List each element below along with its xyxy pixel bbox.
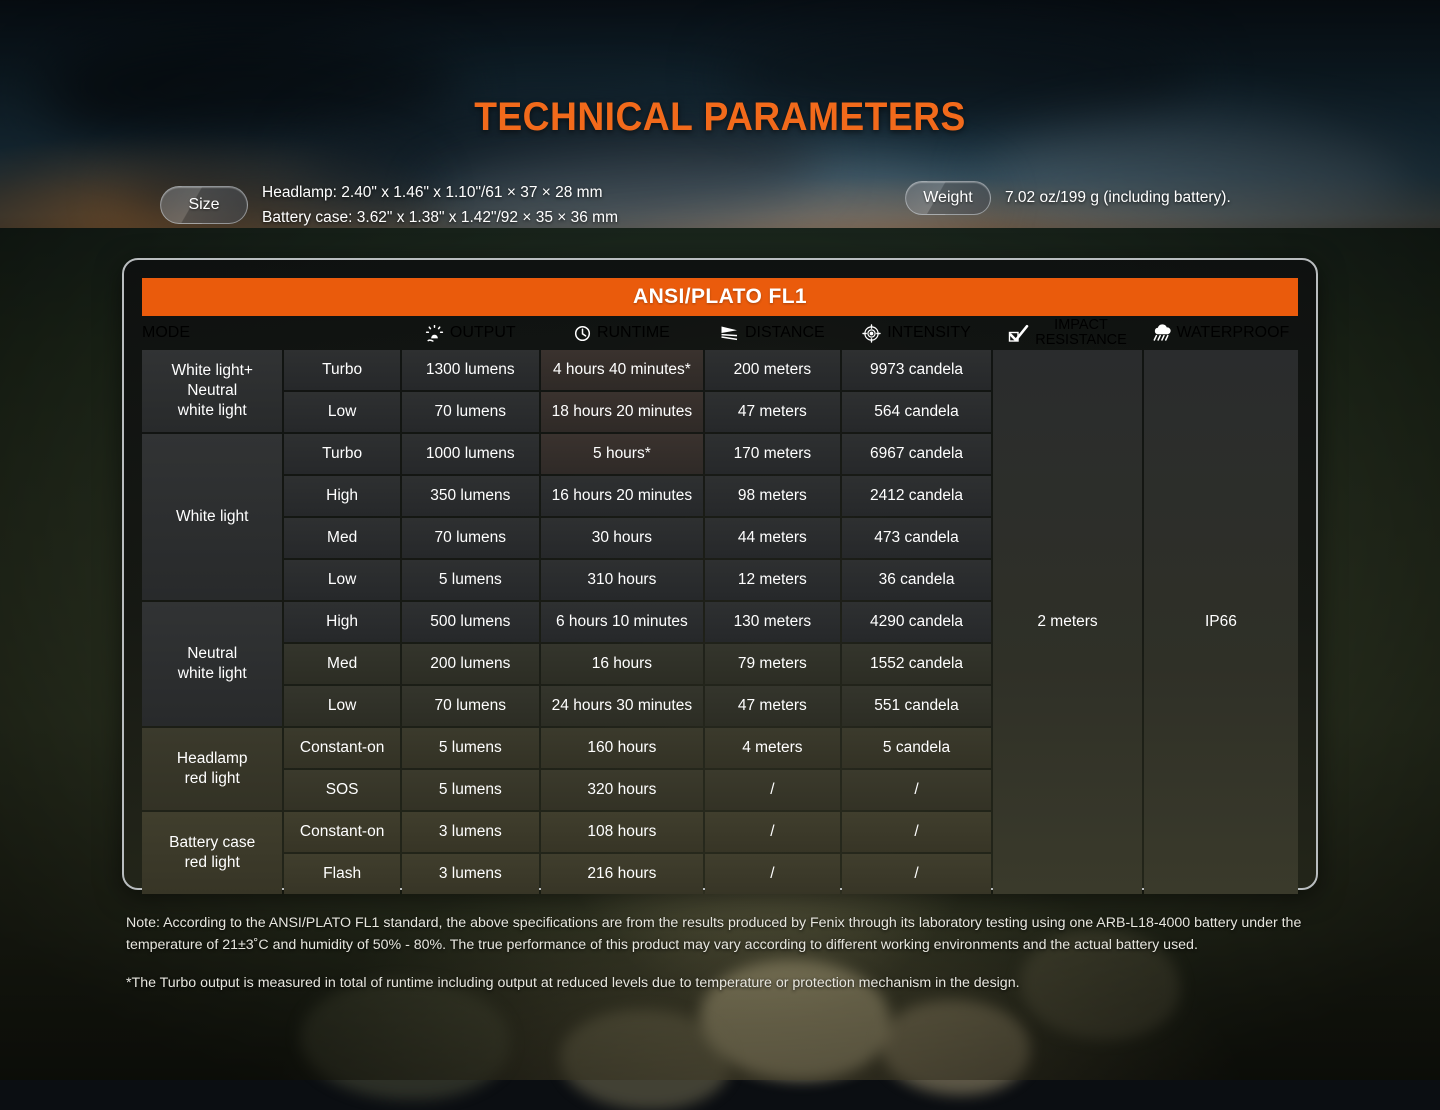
spec-table: ANSI/PLATO FL1 MODE	[140, 276, 1300, 896]
intensity-value: 6967 candela	[842, 434, 992, 474]
intensity-value: 473 candela	[842, 518, 992, 558]
distance-value: 12 meters	[705, 560, 840, 600]
output-value: 1000 lumens	[402, 434, 539, 474]
output-value: 500 lumens	[402, 602, 539, 642]
intensity-value: 4290 candela	[842, 602, 992, 642]
waterproof-value: IP66	[1144, 350, 1298, 894]
mode-level: Med	[284, 644, 399, 684]
output-value: 5 lumens	[402, 770, 539, 810]
mode-level: Constant-on	[284, 728, 399, 768]
distance-value: 200 meters	[705, 350, 840, 390]
weight-badge: Weight	[905, 181, 991, 215]
impact-resistance-value: 2 meters	[993, 350, 1141, 894]
col-distance-label: DISTANCE	[745, 324, 825, 342]
intensity-value: /	[842, 812, 992, 852]
crosshair-target-icon	[862, 324, 881, 343]
mode-level: Flash	[284, 854, 399, 894]
page-title: TECHNICAL PARAMETERS	[50, 95, 1389, 140]
mode-level: Low	[284, 686, 399, 726]
col-intensity: INTENSITY	[842, 318, 992, 348]
distance-value: 79 meters	[705, 644, 840, 684]
intensity-value: /	[842, 854, 992, 894]
note-standard: Note: According to the ANSI/PLATO FL1 st…	[126, 912, 1316, 956]
output-value: 70 lumens	[402, 518, 539, 558]
distance-value: 98 meters	[705, 476, 840, 516]
output-value: 70 lumens	[402, 686, 539, 726]
col-intensity-label: INTENSITY	[887, 324, 971, 342]
col-mode: MODE	[142, 318, 400, 348]
beam-cone-icon	[720, 325, 739, 341]
mode-group-label: Battery casered light	[142, 812, 282, 894]
col-impact-resistance-label: IMPACT RESISTANCE	[1035, 318, 1127, 348]
runtime-value: 320 hours	[541, 770, 703, 810]
col-impact-resistance: IMPACT RESISTANCE	[993, 318, 1141, 348]
mode-level: High	[284, 602, 399, 642]
table-header-row: MODE	[142, 318, 1298, 348]
output-value: 5 lumens	[402, 560, 539, 600]
mode-group-label: Neutralwhite light	[142, 602, 282, 726]
distance-value: 47 meters	[705, 686, 840, 726]
mode-level: Constant-on	[284, 812, 399, 852]
distance-value: 170 meters	[705, 434, 840, 474]
output-value: 1300 lumens	[402, 350, 539, 390]
mode-level: Low	[284, 392, 399, 432]
output-value: 3 lumens	[402, 854, 539, 894]
distance-value: 44 meters	[705, 518, 840, 558]
mode-level: Turbo	[284, 434, 399, 474]
intensity-value: /	[842, 770, 992, 810]
table-banner-row: ANSI/PLATO FL1	[142, 278, 1298, 316]
size-line-1: Headlamp: 2.40" x 1.46" x 1.10"/61 × 37 …	[262, 180, 618, 205]
runtime-value: 24 hours 30 minutes	[541, 686, 703, 726]
size-badge: Size	[160, 186, 248, 224]
distance-value: 47 meters	[705, 392, 840, 432]
runtime-value: 16 hours 20 minutes	[541, 476, 703, 516]
output-value: 70 lumens	[402, 392, 539, 432]
spec-size: Size Headlamp: 2.40" x 1.46" x 1.10"/61 …	[160, 180, 618, 230]
ansi-plato-banner: ANSI/PLATO FL1	[142, 278, 1298, 316]
mode-level: Low	[284, 560, 399, 600]
runtime-value: 30 hours	[541, 518, 703, 558]
distance-value: 130 meters	[705, 602, 840, 642]
col-runtime: RUNTIME	[541, 318, 703, 348]
output-value: 200 lumens	[402, 644, 539, 684]
runtime-value: 160 hours	[541, 728, 703, 768]
distance-value: 4 meters	[705, 728, 840, 768]
distance-value: /	[705, 854, 840, 894]
output-value: 350 lumens	[402, 476, 539, 516]
mode-group-label: Headlampred light	[142, 728, 282, 810]
col-runtime-label: RUNTIME	[597, 324, 670, 342]
runtime-value: 18 hours 20 minutes	[541, 392, 703, 432]
intensity-value: 1552 candela	[842, 644, 992, 684]
intensity-value: 5 candela	[842, 728, 992, 768]
clock-icon	[574, 325, 591, 342]
intensity-value: 551 candela	[842, 686, 992, 726]
check-square-icon	[1008, 324, 1029, 343]
spec-weight: Weight 7.02 oz/199 g (including battery)…	[905, 181, 1231, 215]
rain-cloud-icon	[1152, 324, 1173, 342]
mode-level: Turbo	[284, 350, 399, 390]
size-line-2: Battery case: 3.62" x 1.38" x 1.42"/92 ×…	[262, 205, 618, 230]
runtime-value: 16 hours	[541, 644, 703, 684]
weight-value: 7.02 oz/199 g (including battery).	[1005, 185, 1231, 210]
distance-value: /	[705, 770, 840, 810]
distance-value: /	[705, 812, 840, 852]
runtime-value: 6 hours 10 minutes	[541, 602, 703, 642]
intensity-value: 9973 candela	[842, 350, 992, 390]
runtime-value: 310 hours	[541, 560, 703, 600]
mode-group-label: White light+Neutralwhite light	[142, 350, 282, 432]
size-values: Headlamp: 2.40" x 1.46" x 1.10"/61 × 37 …	[262, 180, 618, 230]
light-burst-icon	[425, 325, 444, 342]
intensity-value: 2412 candela	[842, 476, 992, 516]
col-mode-label: MODE	[142, 324, 190, 341]
col-output-label: OUTPUT	[450, 324, 516, 342]
runtime-value: 5 hours*	[541, 434, 703, 474]
spec-table-frame: ANSI/PLATO FL1 MODE	[122, 258, 1318, 890]
col-waterproof-label: WATERPROOF	[1176, 324, 1289, 342]
note-turbo: *The Turbo output is measured in total o…	[126, 972, 1316, 994]
output-value: 5 lumens	[402, 728, 539, 768]
mode-group-label: White light	[142, 434, 282, 600]
col-waterproof: WATERPROOF	[1144, 318, 1298, 348]
footnotes: Note: According to the ANSI/PLATO FL1 st…	[126, 912, 1316, 994]
col-output: OUTPUT	[402, 318, 539, 348]
col-distance: DISTANCE	[705, 318, 840, 348]
mode-level: Med	[284, 518, 399, 558]
table-body: White light+Neutralwhite lightTurbo1300 …	[142, 350, 1298, 894]
output-value: 3 lumens	[402, 812, 539, 852]
intensity-value: 36 candela	[842, 560, 992, 600]
mode-level: High	[284, 476, 399, 516]
runtime-value: 108 hours	[541, 812, 703, 852]
runtime-value: 4 hours 40 minutes*	[541, 350, 703, 390]
runtime-value: 216 hours	[541, 854, 703, 894]
intensity-value: 564 candela	[842, 392, 992, 432]
table-row: White light+Neutralwhite lightTurbo1300 …	[142, 350, 1298, 390]
mode-level: SOS	[284, 770, 399, 810]
